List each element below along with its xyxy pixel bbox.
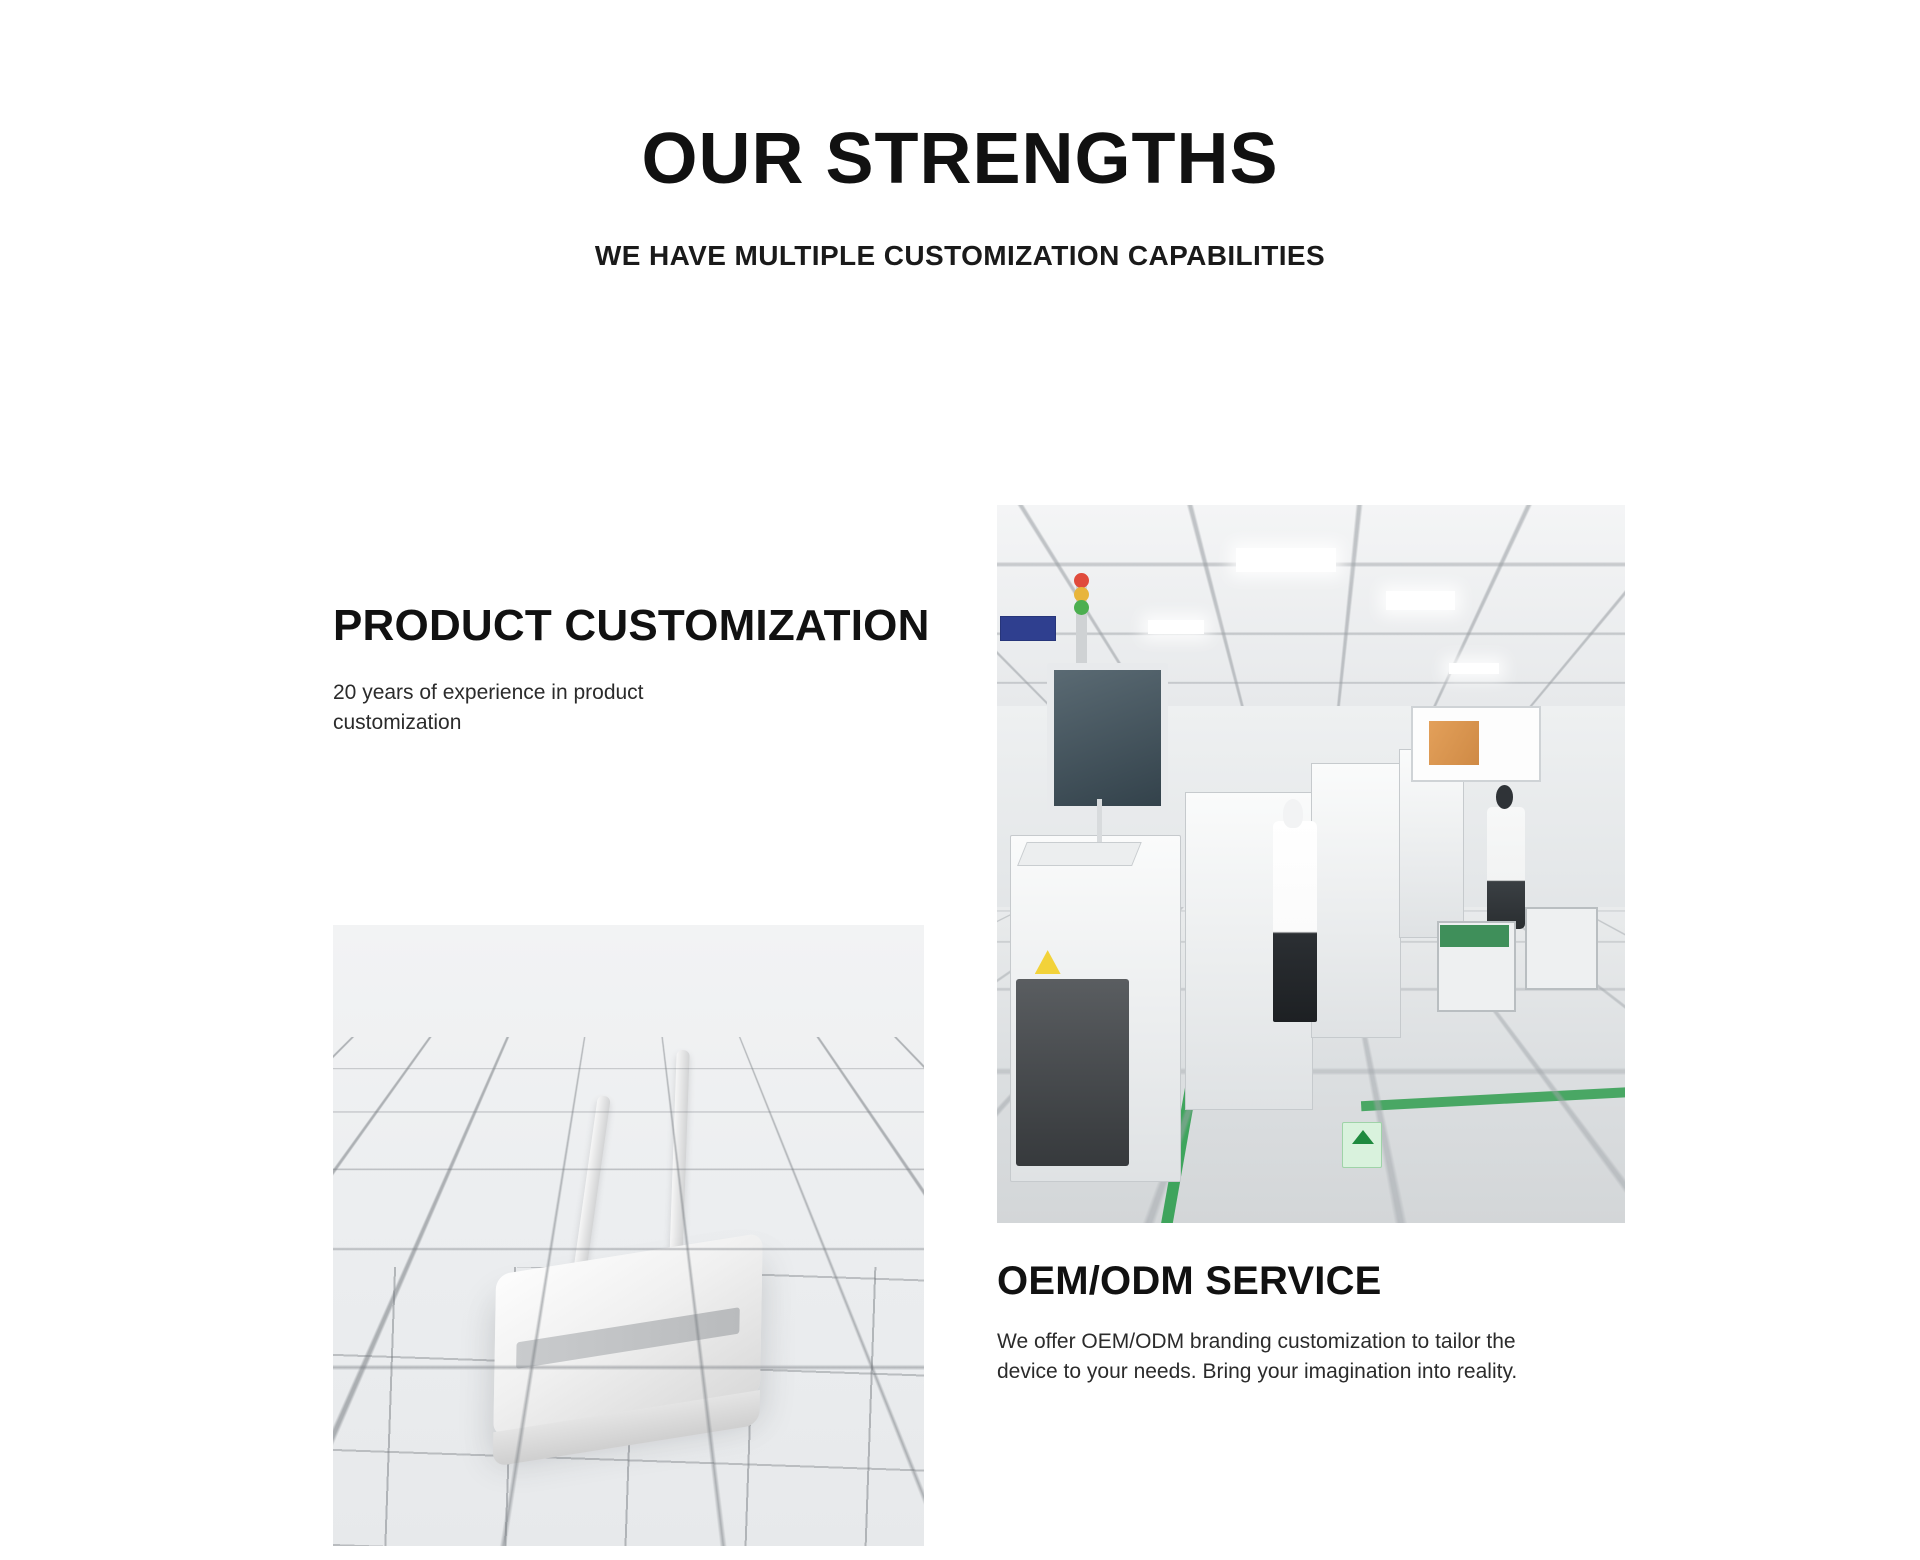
tower-lamp-red xyxy=(1074,573,1089,588)
machine-lower-housing xyxy=(1016,979,1129,1166)
oem-odm-body: We offer OEM/ODM branding customization … xyxy=(997,1327,1567,1387)
strengths-page: OUR STRENGTHS WE HAVE MULTIPLE CUSTOMIZA… xyxy=(0,0,1920,1560)
product-customization-title: PRODUCT CUSTOMIZATION xyxy=(333,600,933,652)
product-customization-body: 20 years of experience in product custom… xyxy=(333,678,753,738)
page-subtitle: WE HAVE MULTIPLE CUSTOMIZATION CAPABILIT… xyxy=(0,240,1920,272)
smt-machine xyxy=(1311,763,1401,1038)
factory-line-image xyxy=(997,505,1625,1223)
worker-in-white-coat xyxy=(1273,821,1317,1022)
section-product-customization: PRODUCT CUSTOMIZATION 20 years of experi… xyxy=(333,600,933,738)
material-trolley xyxy=(1525,907,1598,990)
exit-arrow-icon xyxy=(1352,1130,1374,1144)
oem-odm-title: OEM/ODM SERVICE xyxy=(997,1258,1597,1305)
page-title: OUR STRENGTHS xyxy=(0,120,1920,199)
ceiling-light xyxy=(1449,663,1499,674)
green-component-tray xyxy=(1440,925,1509,947)
section-oem-odm-service: OEM/ODM SERVICE We offer OEM/ODM brandin… xyxy=(997,1258,1597,1387)
machine-monitor-screen xyxy=(1047,663,1168,813)
router-led-stripe xyxy=(516,1308,740,1369)
operator-keyboard-tray xyxy=(1017,842,1142,866)
wall-display-board xyxy=(1411,706,1541,782)
ceiling-light xyxy=(1386,591,1455,610)
ceiling-light xyxy=(1148,620,1205,634)
worker-background xyxy=(1487,807,1525,929)
ceiling-light xyxy=(1236,548,1336,572)
product-router-image xyxy=(333,925,924,1546)
worker-head-cap xyxy=(1283,799,1303,828)
wall-board-graphic xyxy=(1429,721,1479,766)
router-floor-grid xyxy=(333,925,924,1037)
overhead-blue-sign xyxy=(1000,616,1055,641)
